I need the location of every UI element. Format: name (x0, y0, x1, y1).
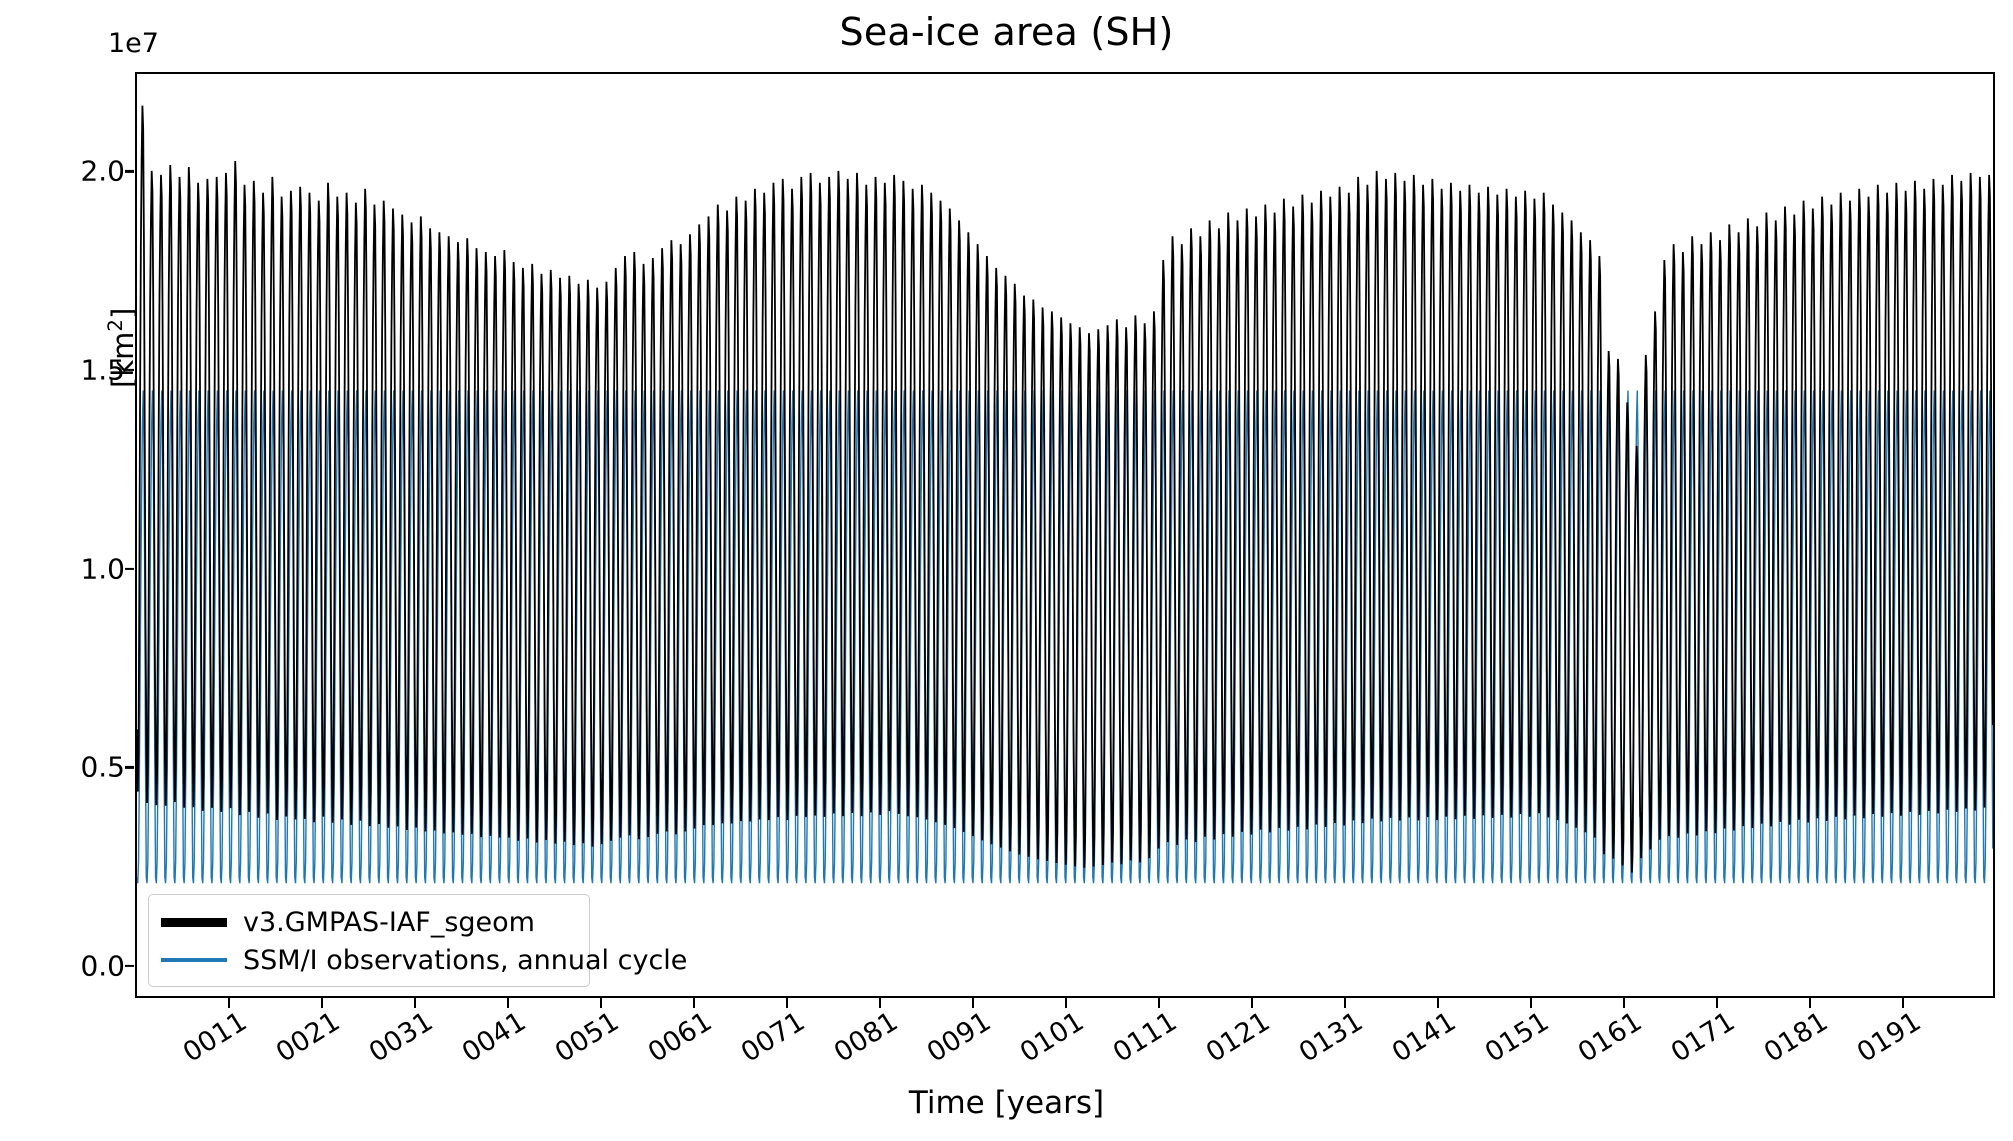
y-axis-tick-label: 1.0 (35, 552, 125, 585)
x-axis-tick-mark (693, 998, 695, 1008)
x-axis-tick-label: 0191 (1837, 1006, 1926, 1078)
y-axis-tick-mark (125, 965, 134, 967)
y-axis-tick-label: 0.0 (35, 950, 125, 983)
legend-line-icon-observations (161, 958, 227, 962)
y-axis-tick-mark (125, 369, 134, 371)
x-axis-tick-label: 0151 (1465, 1006, 1554, 1078)
x-axis-label: Time [years] (0, 1085, 2013, 1121)
x-axis-tick-mark (786, 998, 788, 1008)
x-axis-tick-mark (1530, 998, 1532, 1008)
x-axis-tick-label: 0171 (1651, 1006, 1740, 1078)
x-axis-tick-mark (1437, 998, 1439, 1008)
legend-entry-model: v3.GMPAS-IAF_sgeom (161, 903, 577, 941)
x-axis-tick-label: 0091 (907, 1006, 996, 1078)
x-axis-tick-mark (879, 998, 881, 1008)
x-axis-tick-mark (1623, 998, 1625, 1008)
x-axis-tick-mark (1344, 998, 1346, 1008)
x-axis-tick-mark (1251, 998, 1253, 1008)
x-axis-tick-mark (228, 998, 230, 1008)
y-axis-tick-label: 2.0 (35, 155, 125, 188)
x-axis-tick-mark (1809, 998, 1811, 1008)
y-axis-tick-label: 0.5 (35, 751, 125, 784)
legend-line-icon-model (161, 918, 227, 927)
x-axis-tick-label: 0051 (535, 1006, 624, 1078)
y-axis-tick-mark (125, 170, 134, 172)
series-group (137, 106, 1993, 884)
x-axis-tick-mark (1065, 998, 1067, 1008)
series-plot (137, 74, 1993, 996)
x-axis-tick-label: 0131 (1279, 1006, 1368, 1078)
x-axis-tick-mark (1158, 998, 1160, 1008)
x-axis-tick-label: 0141 (1372, 1006, 1461, 1078)
x-axis-tick-mark (321, 998, 323, 1008)
x-axis-tick-label: 0031 (349, 1006, 438, 1078)
x-axis-tick-mark (507, 998, 509, 1008)
x-axis-tick-label: 0061 (628, 1006, 717, 1078)
chart-title: Sea-ice area (SH) (0, 10, 2013, 54)
series-v3-gmpas-iaf-sgeom (137, 106, 1993, 873)
figure-canvas: Sea-ice area (SH) 1e7 [km2] 0.00.51.01.5… (0, 0, 2013, 1141)
x-axis-tick-label: 0041 (442, 1006, 531, 1078)
x-axis-tick-mark (600, 998, 602, 1008)
x-axis-tick-label: 0161 (1558, 1006, 1647, 1078)
x-axis-tick-label: 0111 (1093, 1006, 1182, 1078)
legend-box[interactable]: v3.GMPAS-IAF_sgeom SSM/I observations, a… (148, 894, 590, 987)
legend-label-observations: SSM/I observations, annual cycle (243, 945, 687, 976)
x-axis-tick-mark (972, 998, 974, 1008)
x-axis-tick-label: 0081 (814, 1006, 903, 1078)
x-axis-tick-mark (1902, 998, 1904, 1008)
x-axis-tick-label: 0021 (256, 1006, 345, 1078)
y-axis-ticks: 0.00.51.01.52.0 (0, 0, 125, 1141)
x-axis-tick-label: 0121 (1186, 1006, 1275, 1078)
y-axis-tick-label: 1.5 (35, 354, 125, 387)
x-axis-tick-label: 0101 (1000, 1006, 1089, 1078)
x-axis-tick-mark (1716, 998, 1718, 1008)
x-axis-tick-mark (414, 998, 416, 1008)
x-axis-tick-label: 0071 (721, 1006, 810, 1078)
y-axis-tick-mark (125, 766, 134, 768)
legend-label-model: v3.GMPAS-IAF_sgeom (243, 907, 535, 938)
x-axis-tick-label: 0011 (163, 1006, 252, 1078)
y-axis-tick-mark (125, 568, 134, 570)
x-axis-tick-label: 0181 (1744, 1006, 1833, 1078)
plot-area (135, 72, 1995, 998)
legend-entry-observations: SSM/I observations, annual cycle (161, 941, 577, 979)
